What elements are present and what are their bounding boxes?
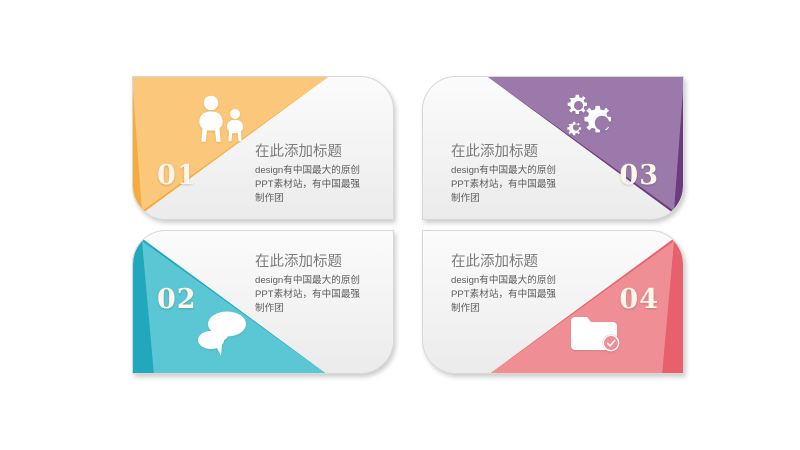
- card-03-number: 03: [619, 162, 659, 189]
- card-03-title: 在此添加标题: [451, 143, 563, 161]
- card-02-body: design有中国最大的原创PPT素材站，有中国最强制作团: [255, 274, 367, 316]
- card-02-inner: 02 在此添加标题 design有中国最大的原创PPT素材站，有中国最强制作团: [133, 231, 393, 373]
- card-01-inner: 01 在此添加标题 design有中国最大的原创PPT素材站，有中国最强制作团: [133, 77, 393, 219]
- card-01-body: design有中国最大的原创PPT素材站，有中国最强制作团: [255, 164, 367, 206]
- gears-icon: [563, 94, 625, 144]
- card-03-inner: 03 在此添加标题 design有中国最大的原创PPT素材站，有中国最强制作团: [423, 77, 683, 219]
- card-04-inner: 04 在此添加标题 design有中国最大的原创PPT素材站，有中国最强制作团: [423, 231, 683, 373]
- card-01-title: 在此添加标题: [255, 143, 367, 161]
- card-03-text-block: 在此添加标题 design有中国最大的原创PPT素材站，有中国最强制作团: [451, 143, 563, 206]
- card-01-text-block: 在此添加标题 design有中国最大的原创PPT素材站，有中国最强制作团: [255, 143, 367, 206]
- card-04-body: design有中国最大的原创PPT素材站，有中国最强制作团: [451, 274, 563, 316]
- card-04-text-block: 在此添加标题 design有中国最大的原创PPT素材站，有中国最强制作团: [451, 253, 563, 316]
- card-02-number: 02: [157, 286, 197, 313]
- info-card-04[interactable]: 04 在此添加标题 design有中国最大的原创PPT素材站，有中国最强制作团: [422, 230, 684, 374]
- slide-canvas: 01 在此添加标题 design有中国最大的原创PPT素材站，有中国最强制作团: [0, 0, 800, 450]
- folder-check-icon: [563, 307, 625, 357]
- speech-bubbles-icon: [191, 307, 253, 357]
- info-card-03[interactable]: 03 在此添加标题 design有中国最大的原创PPT素材站，有中国最强制作团: [422, 76, 684, 220]
- card-04-title: 在此添加标题: [451, 253, 563, 271]
- info-card-01[interactable]: 01 在此添加标题 design有中国最大的原创PPT素材站，有中国最强制作团: [132, 76, 394, 220]
- people-icon: [191, 94, 253, 144]
- card-03-body: design有中国最大的原创PPT素材站，有中国最强制作团: [451, 164, 563, 206]
- card-01-number: 01: [157, 162, 197, 189]
- info-card-02[interactable]: 02 在此添加标题 design有中国最大的原创PPT素材站，有中国最强制作团: [132, 230, 394, 374]
- card-04-number: 04: [619, 286, 659, 313]
- card-02-title: 在此添加标题: [255, 253, 367, 271]
- card-02-text-block: 在此添加标题 design有中国最大的原创PPT素材站，有中国最强制作团: [255, 253, 367, 316]
